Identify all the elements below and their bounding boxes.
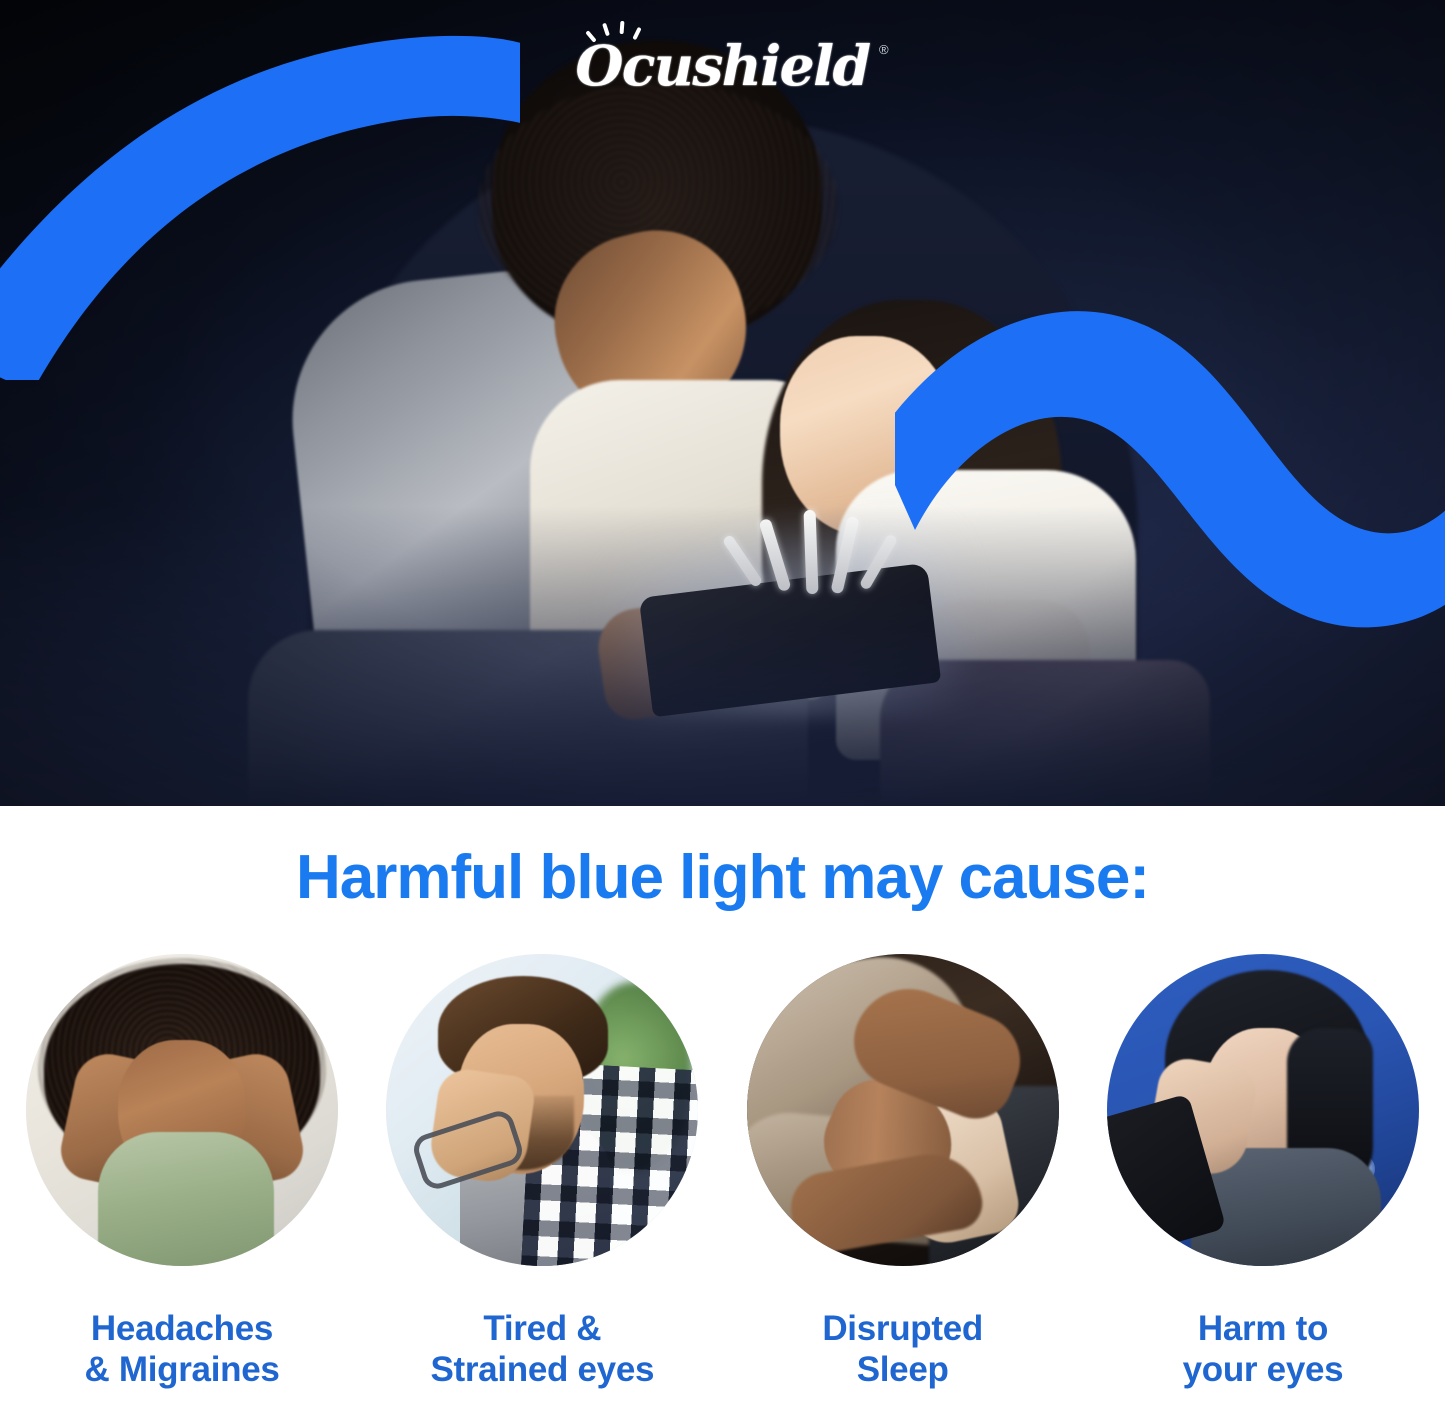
card-caption: Disrupted Sleep [822,1308,983,1391]
benefits-panel: Harmful blue light may cause: Headaches … [0,806,1445,1406]
photo-woman-phone-blue-light [1107,954,1419,1266]
marketing-infographic: Ocushield ® Harmful blue light may cause… [0,0,1445,1406]
card-disrupted-sleep: Disrupted Sleep [743,954,1063,1391]
hero-section: Ocushield ® [0,0,1445,806]
card-caption: Tired & Strained eyes [430,1308,654,1391]
card-tired-eyes: Tired & Strained eyes [382,954,702,1391]
photo-woman-headache [26,954,338,1266]
blue-wave-left [0,20,520,380]
card-headaches: Headaches & Migraines [22,954,342,1391]
card-caption: Headaches & Migraines [84,1308,279,1391]
page-title: Harmful blue light may cause: [0,842,1445,913]
cards-row: Headaches & Migraines Tired & Strained e… [0,954,1445,1391]
card-caption: Harm to your eyes [1183,1308,1344,1391]
card-eye-harm: Harm to your eyes [1103,954,1423,1391]
photo-woman-awake-in-bed [747,954,1059,1266]
photo-man-rubbing-eyes [386,954,698,1266]
blue-wave-right [895,280,1445,640]
